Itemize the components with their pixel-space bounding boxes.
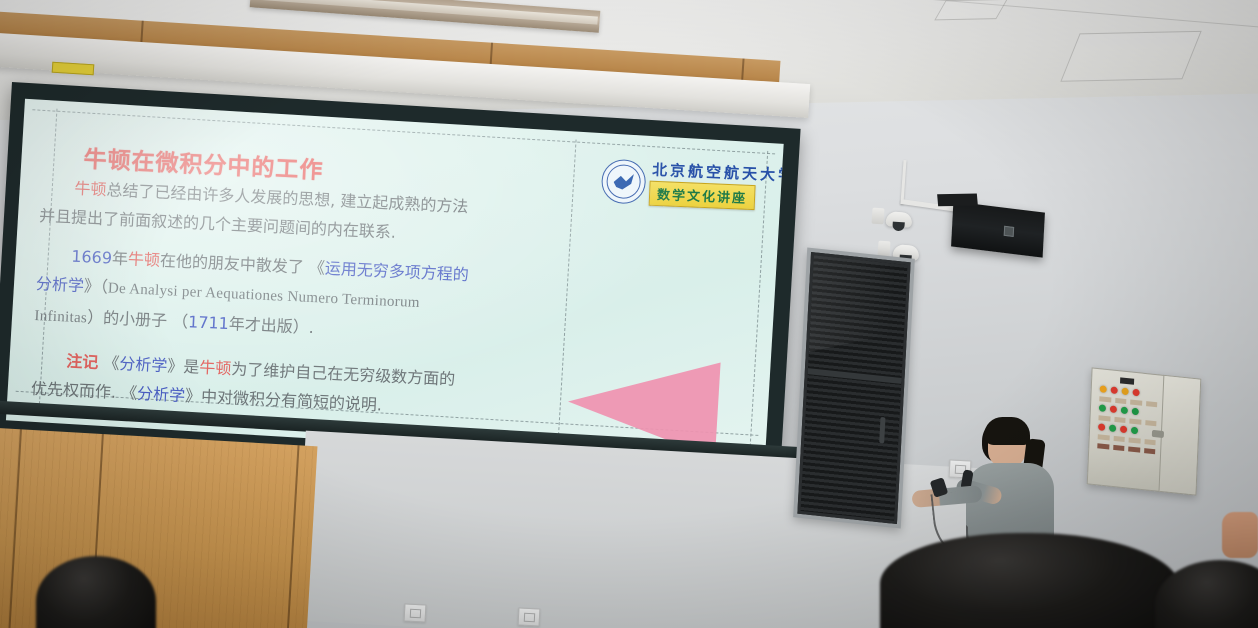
run-body-2: 在他的朋友中散发了 《 — [160, 251, 326, 278]
run-title-part3: 分析学 — [119, 354, 168, 375]
university-seal-icon — [601, 159, 647, 205]
audience-hand — [1222, 512, 1258, 558]
run-title-part4: 分析学 — [137, 384, 186, 405]
run-title-part1: 运用无穷多项方程的 — [324, 259, 469, 285]
camera-wall-mount-upper — [871, 208, 884, 225]
slide-body: 牛顿总结了已经由许多人发展的思想, 建立起成熟的方法 并且提出了前面叙述的几个主… — [30, 173, 571, 435]
run-paren-close: ）的小册子 （ — [87, 307, 189, 331]
run-paren-open: 》（ — [84, 276, 109, 296]
speaker-indicator-icon — [1004, 226, 1014, 237]
wall-socket-left[interactable] — [404, 603, 427, 622]
lecture-series-banner: 数学文化讲座 — [649, 181, 756, 210]
run-newton-2: 牛顿 — [128, 249, 161, 269]
run-body-4c: 为了维护自己在无穷级数方面的 — [231, 359, 456, 389]
window-glass — [797, 252, 910, 524]
presenter-hair-front — [984, 417, 1030, 445]
panel-latch-handle[interactable] — [1152, 430, 1164, 438]
panel-badge-icon — [1120, 377, 1134, 384]
wall-socket-right[interactable] — [518, 607, 541, 626]
run-newton-3: 牛顿 — [199, 358, 232, 378]
panel-door[interactable] — [1159, 376, 1201, 495]
run-year-1711: 1711 — [188, 312, 230, 333]
run-newton-1: 牛顿 — [74, 179, 107, 199]
window — [793, 248, 915, 529]
speaker-bracket — [937, 194, 978, 207]
seal-bird-icon — [613, 173, 634, 190]
run-body-5a: 优先权而作. 《 — [31, 379, 138, 403]
university-logo-block: 北京航空航天大学 数学文化讲座 — [603, 155, 778, 162]
run-body-4b: 》是 — [167, 356, 200, 376]
run-body-4a: 《 — [98, 353, 120, 373]
run-body-5b: 》中对微积分有简短的说明. — [185, 386, 383, 414]
run-body-3: 年才出版）. — [228, 314, 314, 337]
run-latin-2: Infinitas — [34, 308, 87, 326]
run-title-part2: 分析学 — [36, 274, 85, 295]
run-year-1669: 1669 — [71, 247, 113, 268]
run-nian-1: 年 — [112, 249, 129, 269]
run-note-label: 注记 — [66, 352, 99, 372]
lecture-hall-scene: 牛顿在微积分中的工作 牛顿总结了已经由许多人发展的思想, 建立起成熟的方法 并且… — [0, 0, 1258, 628]
